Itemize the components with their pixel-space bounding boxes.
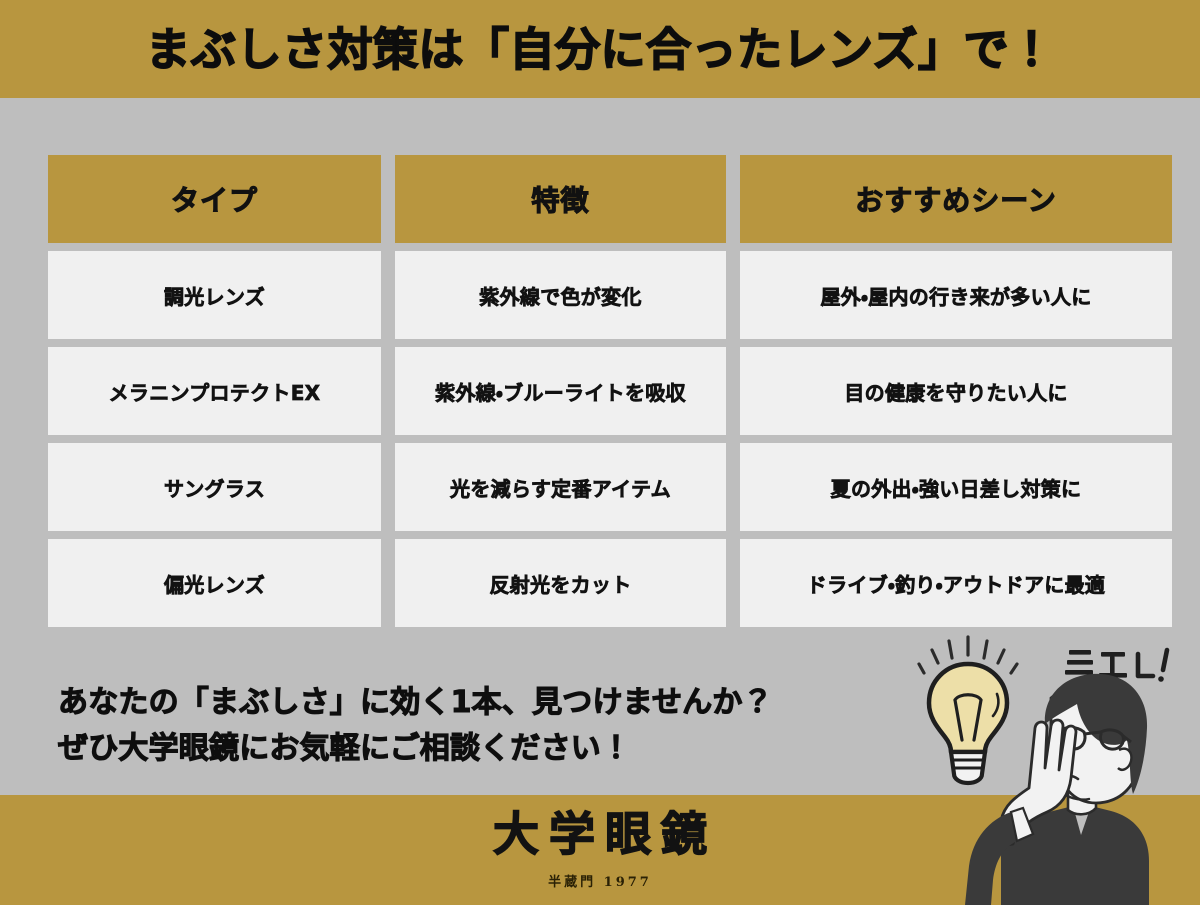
cell-feature: 紫外線で色が変化 [395,251,726,339]
cell-feature: 反射光をカット [395,539,726,627]
header-band: まぶしさ対策は「自分に合ったレンズ」で！ [0,0,1200,98]
logo-wordmark: 大学眼鏡 [493,811,717,857]
table-header-row: タイプ 特徴 おすすめシーン [48,155,1172,243]
lens-comparison-table: タイプ 特徴 おすすめシーン 調光レンズ 紫外線で色が変化 屋外・屋内の行き来が… [48,155,1172,627]
cta-line-1: あなたの「まぶしさ」に効く1本、見つけませんか？ [58,680,888,726]
cell-type: 偏光レンズ [48,539,381,627]
page-title: まぶしさ対策は「自分に合ったレンズ」で！ [145,27,1054,72]
cell-type: メラニンプロテクトEX [48,347,381,435]
cell-scene: 夏の外出・強い日差し対策に [740,443,1172,531]
cell-type: サングラス [48,443,381,531]
cell-scene: 屋外・屋内の行き来が多い人に [740,251,1172,339]
column-header-type: タイプ [48,155,381,243]
cell-feature: 紫外線・ブルーライトを吸収 [395,347,726,435]
column-header-scene: おすすめシーン [740,155,1172,243]
thinking-person-illustration [905,628,1200,905]
cta-line-2: ぜひ大学眼鏡にお気軽にご相談ください！ [58,726,888,772]
cell-scene: 目の健康を守りたい人に [740,347,1172,435]
cell-type: 調光レンズ [48,251,381,339]
call-to-action: あなたの「まぶしさ」に効く1本、見つけませんか？ ぜひ大学眼鏡にお気軽にご相談く… [58,680,888,771]
table-row: メラニンプロテクトEX 紫外線・ブルーライトを吸収 目の健康を守りたい人に [48,347,1172,435]
table-row: 調光レンズ 紫外線で色が変化 屋外・屋内の行き来が多い人に [48,251,1172,339]
table-row: 偏光レンズ 反射光をカット ドライブ・釣り・アウトドアに最適 [48,539,1172,627]
logo-tagline: 半蔵門 1977 [548,871,652,890]
cell-feature: 光を減らす定番アイテム [395,443,726,531]
cell-scene: ドライブ・釣り・アウトドアに最適 [740,539,1172,627]
table-row: サングラス 光を減らす定番アイテム 夏の外出・強い日差し対策に [48,443,1172,531]
infographic-canvas: まぶしさ対策は「自分に合ったレンズ」で！ タイプ 特徴 おすすめシーン 調光レン… [0,0,1200,905]
lightbulb-icon [919,637,1017,783]
column-header-feature: 特徴 [395,155,726,243]
